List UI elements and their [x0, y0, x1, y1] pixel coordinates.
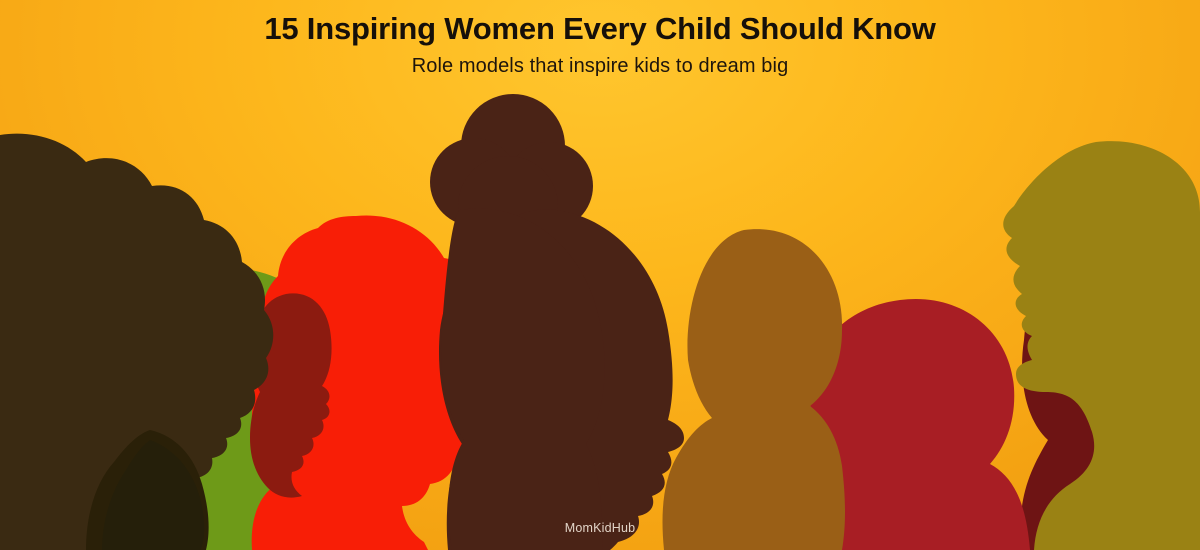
figure-medium-brown	[663, 229, 846, 550]
figure-dark-brown-bun	[430, 94, 684, 550]
inspiring-women-banner: 15 Inspiring Women Every Child Should Kn…	[0, 0, 1200, 550]
women-silhouette-illustration	[0, 0, 1200, 550]
watermark-label: MomKidHub	[0, 521, 1200, 535]
